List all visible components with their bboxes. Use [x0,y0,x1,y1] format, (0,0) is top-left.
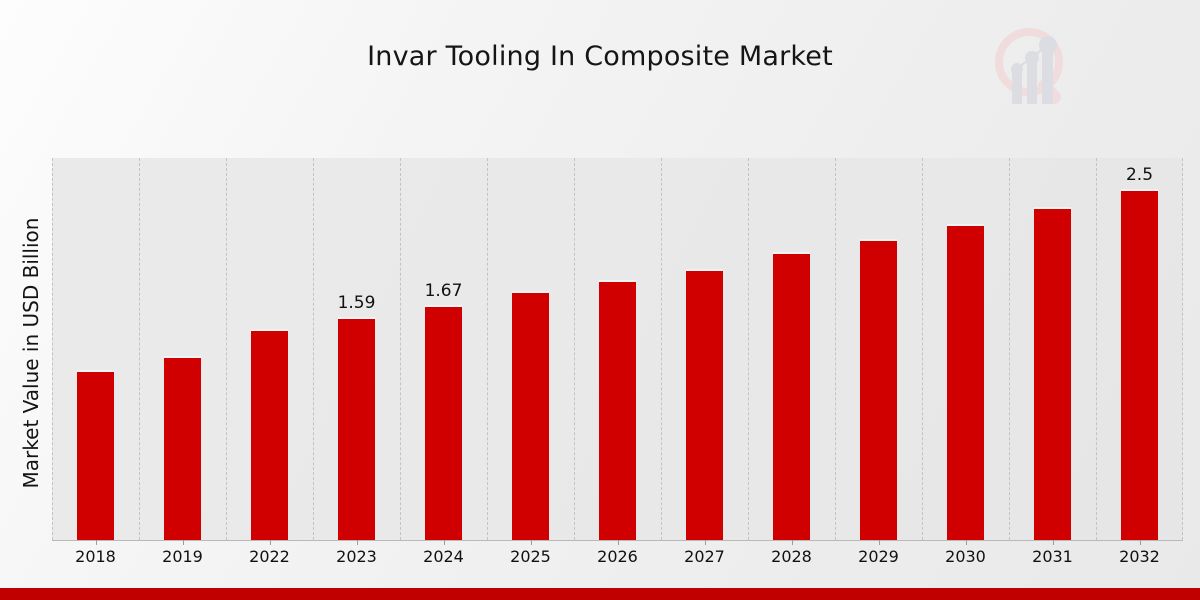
x-axis-tick-label: 2019 [148,547,218,566]
bar[interactable] [773,252,810,540]
x-axis-tick-label: 2029 [844,547,914,566]
x-axis-tick-label: 2022 [235,547,305,566]
bottom-accent-band [0,588,1200,600]
bar-value-label: 2.5 [1105,165,1175,185]
gridline [313,158,315,540]
bar[interactable] [860,239,897,540]
x-axis-tick [96,540,97,545]
x-axis-tick [444,540,445,545]
x-axis-tick [357,540,358,545]
gridline [1009,158,1011,540]
gridline [661,158,663,540]
x-axis-tick-label: 2032 [1105,547,1175,566]
gridline [400,158,402,540]
gridline [1096,158,1098,540]
bar[interactable] [338,317,375,540]
bar[interactable] [251,329,288,540]
gridline [574,158,576,540]
bar[interactable] [947,224,984,540]
bar[interactable] [164,356,201,540]
x-axis-tick [966,540,967,545]
x-axis-tick [1140,540,1141,545]
bar[interactable] [77,370,114,540]
gridline [748,158,750,540]
x-axis-tick-label: 2031 [1018,547,1088,566]
chart-figure: Invar Tooling In Composite Market Market… [0,0,1200,600]
x-axis-tick-label: 2025 [496,547,566,566]
x-axis-tick-label: 2023 [322,547,392,566]
bar[interactable] [512,291,549,540]
x-axis-tick [183,540,184,545]
x-axis-tick-label: 2026 [583,547,653,566]
gridline [139,158,141,540]
plot-area [52,158,1183,541]
bar[interactable] [1121,189,1158,540]
gridline [922,158,924,540]
bar[interactable] [686,269,723,540]
gridline [487,158,489,540]
x-axis-tick [879,540,880,545]
bar-value-label: 1.59 [322,293,392,313]
gridline [1182,158,1184,540]
bar-value-label: 1.67 [409,281,479,301]
y-axis-label: Market Value in USD Billion [19,153,43,553]
x-axis-tick-label: 2030 [931,547,1001,566]
x-axis-tick-label: 2028 [757,547,827,566]
x-axis-tick [618,540,619,545]
gridline [52,158,54,540]
bar[interactable] [599,280,636,540]
x-axis-tick-label: 2027 [670,547,740,566]
gridline [226,158,228,540]
x-axis-tick [270,540,271,545]
x-axis-tick-label: 2024 [409,547,479,566]
x-axis-tick [705,540,706,545]
x-axis-tick [531,540,532,545]
bar[interactable] [1034,207,1071,540]
bar[interactable] [425,305,462,540]
x-axis-tick [792,540,793,545]
x-axis-tick [1053,540,1054,545]
x-axis-tick-label: 2018 [61,547,131,566]
market-research-magnifier-logo-icon [985,20,1080,115]
gridline [835,158,837,540]
